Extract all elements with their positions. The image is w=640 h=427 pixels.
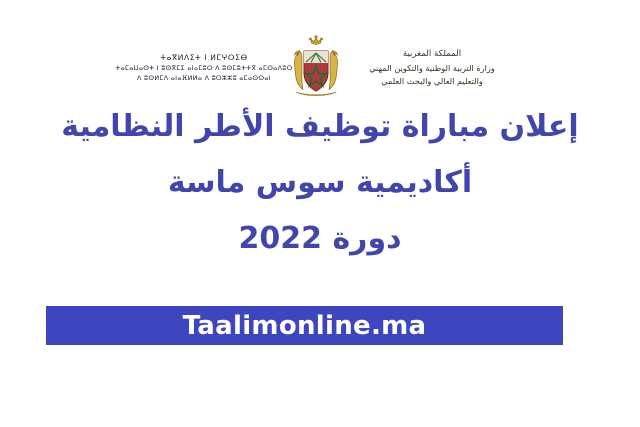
morocco-coat-of-arms-icon [284,35,348,101]
headline-line-3: دورة 2022 [0,224,640,254]
arabic-line-2: وزارة التربية الوطنية والتكوين المهني [348,62,516,76]
amazigh-line-3: ⴷ ⵓⵙⵍⵎⴷ ⴰⵏⴰⴼⵍⵍⴰ ⴷ ⵓⵔⵣⵣⵓ ⴰⵎⴰⵙⵙⴰⵏ [137,74,271,84]
announcement-page: ⵜⴰⴳⵍⴷⵉⵜ ⵏ ⵍⵎⵖⵔⵉⴱ ⵜⴰⵎⴰⵡⴰⵙⵜ ⵏ ⵓⵙⴳⵎⵉ ⴰⵏⴰⵎⵓⵔ… [0,0,640,427]
website-banner: Taalimonline.ma [46,306,563,345]
amazigh-line-2: ⵜⴰⵎⴰⵡⴰⵙⵜ ⵏ ⵓⵙⴳⵎⵉ ⴰⵏⴰⵎⵓⵔ ⴷ ⵓⵙⵎⵓⵜⵜⴳ ⴰⵎⵙⴰⴷⵓ… [115,64,292,74]
headline-line-1: إعلان مباراة توظيف الأطر النظامية [0,112,640,142]
headline-line-2: أكاديمية سوس ماسة [0,168,640,198]
official-letterhead: ⵜⴰⴳⵍⴷⵉⵜ ⵏ ⵍⵎⵖⵔⵉⴱ ⵜⴰⵎⴰⵡⴰⵙⵜ ⵏ ⵓⵙⴳⵎⵉ ⴰⵏⴰⵎⵓⵔ… [0,32,640,104]
letterhead-arabic-text: المملكة المغربية وزارة التربية الوطنية و… [348,35,516,101]
website-banner-label: Taalimonline.ma [183,311,427,341]
page-title: إعلان مباراة توظيف الأطر النظامية أكاديم… [0,112,640,254]
amazigh-line-1: ⵜⴰⴳⵍⴷⵉⵜ ⵏ ⵍⵎⵖⵔⵉⴱ [160,52,248,64]
letterhead-amazigh-text: ⵜⴰⴳⵍⴷⵉⵜ ⵏ ⵍⵎⵖⵔⵉⴱ ⵜⴰⵎⴰⵡⴰⵙⵜ ⵏ ⵓⵙⴳⵎⵉ ⴰⵏⴰⵎⵓⵔ… [124,35,284,101]
arabic-line-3: والتعليم العالي والبحث العلمي [348,75,516,89]
arabic-line-1: المملكة المغربية [348,47,516,61]
